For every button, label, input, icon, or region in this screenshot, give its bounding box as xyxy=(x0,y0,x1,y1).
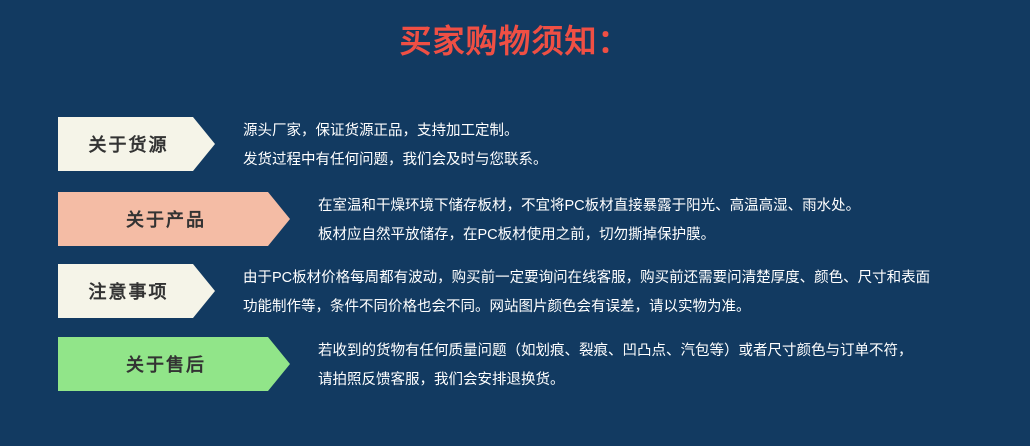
page-title: 买家购物须知： xyxy=(0,22,1030,60)
notice-label-text: 关于售后 xyxy=(126,351,222,377)
notice-text-line: 发货过程中有任何问题，我们会及时与您联系。 xyxy=(243,146,548,175)
notice-label-text: 关于货源 xyxy=(89,131,185,157)
notice-label-product: 关于产品 xyxy=(58,192,290,246)
notice-text-line: 请拍照反馈客服，我们会安排退换货。 xyxy=(318,366,913,395)
notice-text-line: 源头厂家，保证货源正品，支持加工定制。 xyxy=(243,117,548,146)
notice-text-line: 在室温和干燥环境下储存板材，不宜将PC板材直接暴露于阳光、高温高湿、雨水处。 xyxy=(318,192,860,221)
notice-text-after-sales: 若收到的货物有任何质量问题（如划痕、裂痕、凹凸点、汽包等）或者尺寸颜色与订单不符… xyxy=(318,337,913,395)
notice-text-attention: 由于PC板材价格每周都有波动，购买前一定要询问在线客服，购买前还需要问清楚厚度、… xyxy=(243,264,930,322)
buyer-notice-banner: 买家购物须知： 关于货源 源头厂家，保证货源正品，支持加工定制。 发货过程中有任… xyxy=(0,0,1030,446)
notice-label-text: 关于产品 xyxy=(126,206,222,232)
notice-text-line: 由于PC板材价格每周都有波动，购买前一定要询问在线客服，购买前还需要问清楚厚度、… xyxy=(243,264,930,293)
notice-text-line: 板材应自然平放储存，在PC板材使用之前，切勿撕掉保护膜。 xyxy=(318,221,860,250)
notice-label-after-sales: 关于售后 xyxy=(58,337,290,391)
notice-label-text: 注意事项 xyxy=(89,278,185,304)
notice-label-attention: 注意事项 xyxy=(58,264,215,318)
notice-text-line: 功能制作等，条件不同价格也会不同。网站图片颜色会有误差，请以实物为准。 xyxy=(243,293,930,322)
notice-text-source: 源头厂家，保证货源正品，支持加工定制。 发货过程中有任何问题，我们会及时与您联系… xyxy=(243,117,548,175)
notice-text-line: 若收到的货物有任何质量问题（如划痕、裂痕、凹凸点、汽包等）或者尺寸颜色与订单不符… xyxy=(318,337,913,366)
notice-text-product: 在室温和干燥环境下储存板材，不宜将PC板材直接暴露于阳光、高温高湿、雨水处。 板… xyxy=(318,192,860,250)
notice-label-source: 关于货源 xyxy=(58,117,215,171)
